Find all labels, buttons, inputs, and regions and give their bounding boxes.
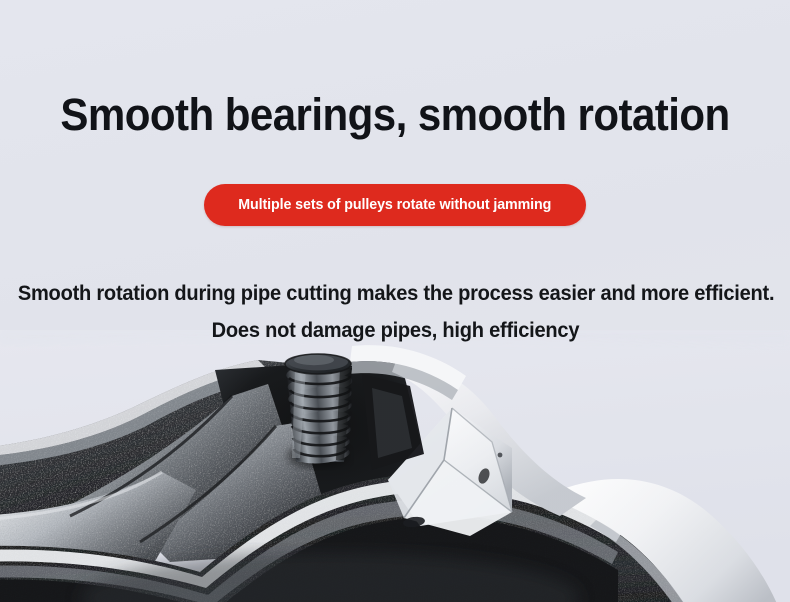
product-feature-banner: Smooth bearings, smooth rotation Multipl… <box>0 0 790 602</box>
feature-badge: Multiple sets of pulleys rotate without … <box>204 184 586 226</box>
description-line-2: Does not damage pipes, high efficiency <box>0 319 790 343</box>
description-line-1-text: Smooth rotation during pipe cutting make… <box>18 282 775 306</box>
copy-block: Smooth bearings, smooth rotation Multipl… <box>0 0 790 345</box>
description-line-2-text: Does not damage pipes, high efficiency <box>211 319 579 343</box>
feature-badge-label: Multiple sets of pulleys rotate without … <box>238 184 551 226</box>
description-line-1: Smooth rotation during pipe cutting make… <box>0 282 790 306</box>
page-title: Smooth bearings, smooth rotation <box>26 88 765 142</box>
product-photo <box>0 330 790 602</box>
product-photo-illustration <box>0 330 790 602</box>
badge-container: Multiple sets of pulleys rotate without … <box>0 184 790 226</box>
